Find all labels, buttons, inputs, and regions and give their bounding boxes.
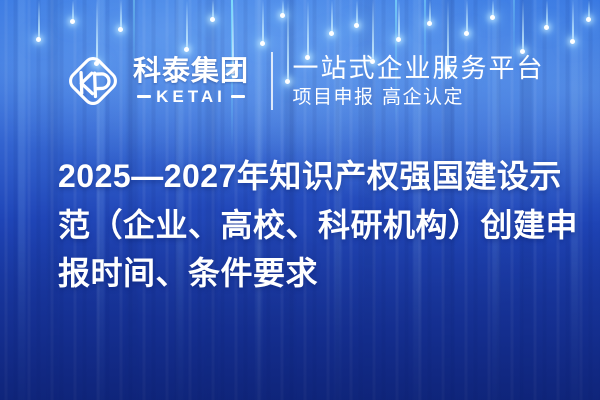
tagline-primary: 一站式企业服务平台	[293, 55, 545, 83]
brand-name-en-row: KETAI	[133, 88, 249, 105]
tagline-secondary: 项目申报 高企认定	[293, 87, 545, 108]
wordmark-rule-right-icon	[231, 95, 245, 98]
title-block: 2025—2027年知识产权强国建设示范（企业、高校、科研机构）创建申报时间、条…	[58, 152, 584, 298]
page-title: 2025—2027年知识产权强国建设示范（企业、高校、科研机构）创建申报时间、条…	[58, 152, 584, 298]
brand-name-en: KETAI	[156, 88, 226, 105]
brand-logo[interactable]: 科泰集团 KETAI	[62, 50, 249, 112]
tagline-block: 一站式企业服务平台 项目申报 高企认定	[293, 55, 545, 108]
brand-wordmark: 科泰集团 KETAI	[133, 57, 249, 105]
wordmark-rule-left-icon	[137, 95, 151, 98]
promo-banner: 科泰集团 KETAI 一站式企业服务平台 项目申报 高企认定 2025—2027…	[0, 0, 600, 400]
banner-header: 科泰集团 KETAI 一站式企业服务平台 项目申报 高企认定	[0, 40, 600, 122]
ketai-kp-diamond-logo-icon	[62, 50, 124, 112]
vertical-divider-icon	[271, 52, 273, 110]
brand-name-cn: 科泰集团	[133, 57, 249, 85]
